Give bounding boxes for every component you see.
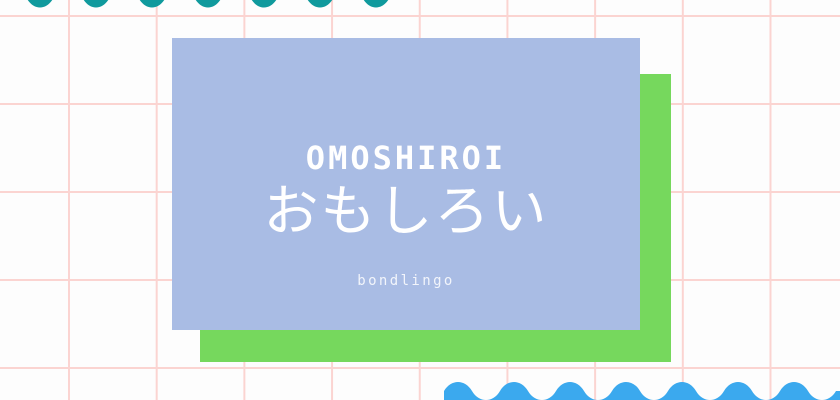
wave-icon-top-left — [0, 0, 392, 18]
thumbnail-canvas: OMOSHIROI おもしろい bondlingo — [0, 0, 840, 400]
title-card: OMOSHIROI おもしろい bondlingo — [172, 38, 640, 330]
brand-label: bondlingo — [357, 273, 454, 289]
wave-icon-bottom-right — [444, 377, 840, 400]
title-romaji: OMOSHIROI — [306, 142, 506, 174]
title-kana: おもしろい — [263, 183, 548, 241]
